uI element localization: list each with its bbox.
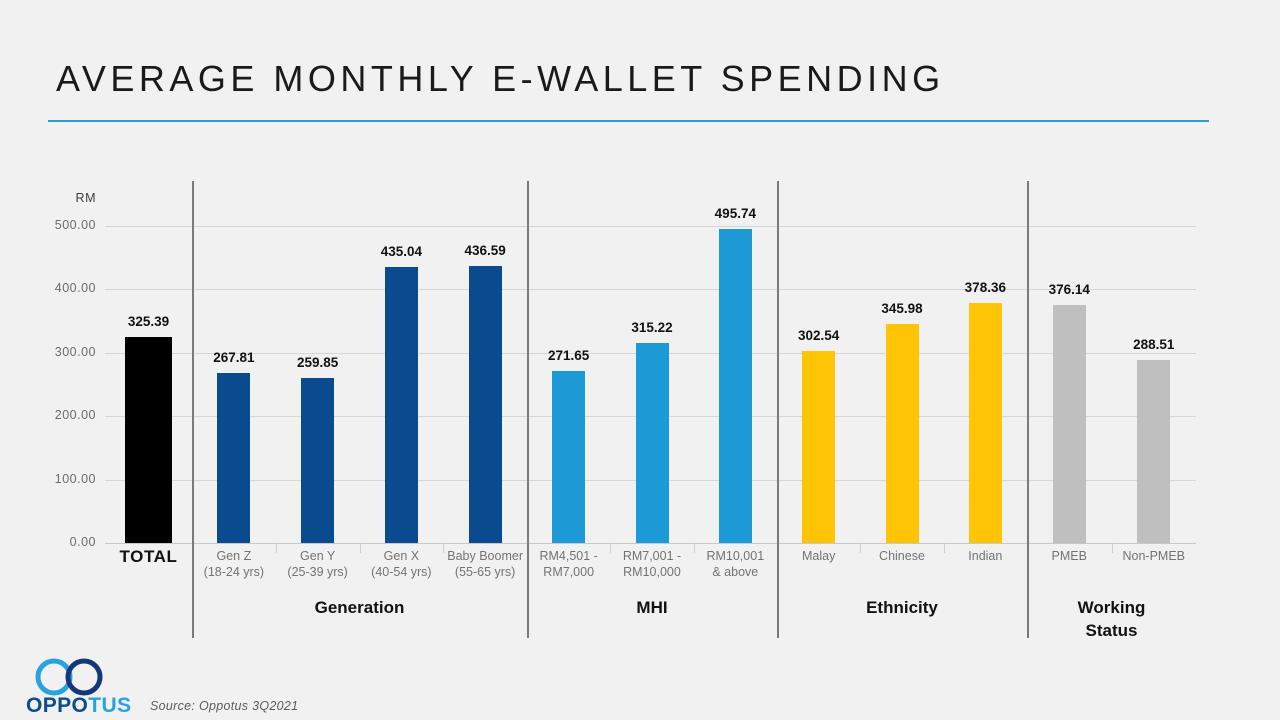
bar-chart: RM 500.00400.00300.00200.00100.000.00 32… [0,0,1280,720]
bar-value-label: 435.04 [361,244,441,259]
category-label-line1: PMEB [1027,549,1112,565]
category-label-line2: (25-39 yrs) [276,565,360,581]
group-label: Generation [192,596,527,619]
x-axis-line [105,543,1196,544]
category-label: Gen X(40-54 yrs) [360,549,444,580]
group-separator [1027,181,1029,638]
category-label: Malay [777,549,860,565]
category-label: Baby Boomer(55-65 yrs) [443,549,527,580]
category-label: RM4,501 -RM7,000 [527,549,610,580]
category-label-line1: Gen X [360,549,444,565]
category-label: Gen Z(18-24 yrs) [192,549,276,580]
category-label: RM7,001 -RM10,000 [610,549,693,580]
bar-value-label: 495.74 [695,206,775,221]
bar[interactable] [301,378,334,543]
category-label: PMEB [1027,549,1112,565]
group-label-line1: Working [1027,596,1196,619]
logo-rings-icon [26,658,142,698]
category-label-line2: (18-24 yrs) [192,565,276,581]
category-label: RM10,001& above [694,549,777,580]
category-label-line2: RM7,000 [527,565,610,581]
group-label: Ethnicity [777,596,1027,619]
bar[interactable] [385,267,418,543]
bar[interactable] [969,303,1002,543]
category-label-line2: (55-65 yrs) [443,565,527,581]
bar-value-label: 376.14 [1029,282,1109,297]
bar-value-label: 267.81 [194,350,274,365]
bar[interactable] [552,371,585,543]
brand-wordmark: OPPOTUS [26,694,132,718]
category-label-line1: RM10,001 [694,549,777,565]
category-label: Gen Y(25-39 yrs) [276,549,360,580]
category-label-line2: RM10,000 [610,565,693,581]
gridline [105,226,1196,227]
category-label: TOTAL [105,549,192,565]
bar-value-label: 436.59 [445,243,525,258]
bar[interactable] [886,324,919,543]
oppotus-logo: OPPOTUS [26,658,142,716]
category-label: Chinese [860,549,943,565]
bar[interactable] [125,337,172,543]
category-label: Non-PMEB [1112,549,1197,565]
bar-value-label: 259.85 [278,355,358,370]
category-label: Indian [944,549,1027,565]
category-label-line1: Non-PMEB [1112,549,1197,565]
bar[interactable] [469,266,502,543]
bar-value-label: 378.36 [945,280,1025,295]
category-label-line1: RM7,001 - [610,549,693,565]
group-separator [777,181,779,638]
bar[interactable] [719,229,752,543]
y-axis-unit-label: RM [0,191,96,205]
bar-value-label: 315.22 [612,320,692,335]
group-label-line2: Status [1027,619,1196,642]
group-label: WorkingStatus [1027,596,1196,642]
bar-value-label: 288.51 [1114,337,1194,352]
category-label-line2: (40-54 yrs) [360,565,444,581]
bar-value-label: 271.65 [529,348,609,363]
category-label-line2: & above [694,565,777,581]
category-label-line1: Chinese [860,549,943,565]
bar[interactable] [636,343,669,543]
bar[interactable] [802,351,835,543]
bar-value-label: 345.98 [862,301,942,316]
brand-name-light: TUS [88,694,131,717]
bar[interactable] [1137,360,1170,543]
category-label-line1: RM4,501 - [527,549,610,565]
brand-name-dark: OPPO [26,694,88,717]
group-label: MHI [527,596,777,619]
category-label-line1: Gen Z [192,549,276,565]
category-label-line1: Baby Boomer [443,549,527,565]
category-label-line1: Malay [777,549,860,565]
category-label-line1: Gen Y [276,549,360,565]
bar[interactable] [217,373,250,543]
bar-value-label: 302.54 [779,328,859,343]
source-note: Source: Oppotus 3Q2021 [150,699,298,713]
category-label-line1: TOTAL [105,549,192,565]
category-label-line1: Indian [944,549,1027,565]
bar[interactable] [1053,305,1086,543]
bar-value-label: 325.39 [109,314,189,329]
